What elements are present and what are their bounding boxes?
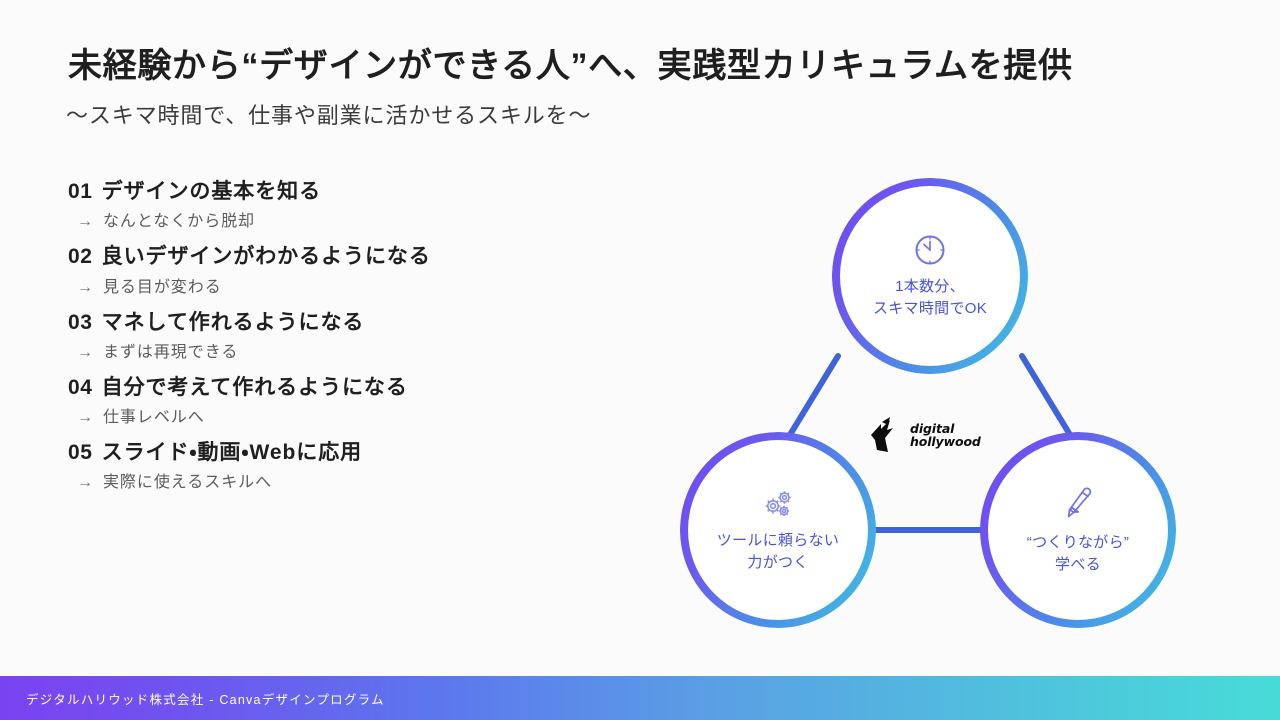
node-inner: ツールに頼らない 力がつく: [688, 440, 868, 620]
step-number: 05: [68, 441, 93, 464]
step-heading-text: 良いデザインがわかるようになる: [102, 245, 431, 268]
step-heading-text: マネして作れるようになる: [102, 311, 365, 334]
arrow-right-icon: →: [77, 279, 94, 296]
pencil-icon: [1062, 485, 1094, 523]
footer-text: デジタルハリウッド株式会社 - Canvaデザインプログラム: [26, 689, 385, 708]
list-item: 05スライド・動画・Webに応用 →実際に使えるスキルへ: [68, 439, 628, 493]
digital-hollywood-logo: digitalhollywood: [865, 412, 1000, 458]
clock-icon: [913, 233, 947, 267]
diagram-node-top[interactable]: 1本数分、 スキマ時間でOK: [832, 178, 1028, 374]
diagram-node-label: “つくりながら” 学べる: [1027, 532, 1129, 576]
arrow-right-icon: →: [77, 474, 94, 491]
footer-bar: デジタルハリウッド株式会社 - Canvaデザインプログラム: [0, 676, 1280, 720]
arrow-right-icon: →: [77, 213, 94, 230]
diagram-node-left[interactable]: ツールに頼らない 力がつく: [680, 432, 876, 628]
diagram-node-label: 1本数分、 スキマ時間でOK: [873, 276, 987, 320]
step-subtext: →まずは再現できる: [77, 343, 628, 363]
step-subtext: →見る目が変わる: [77, 278, 628, 298]
gears-icon: [760, 487, 796, 521]
arrow-right-icon: →: [77, 409, 94, 426]
step-subtext-label: 仕事レベルへ: [103, 409, 205, 426]
step-heading: 03マネして作れるようになる: [68, 309, 628, 336]
step-heading-text: スライド・動画・Webに応用: [102, 441, 362, 464]
step-number: 01: [68, 180, 93, 203]
list-item: 01デザインの基本を知る →なんとなくから脱却: [68, 178, 628, 232]
logo-line-2: hollywood: [910, 434, 981, 449]
step-heading: 05スライド・動画・Webに応用: [68, 439, 628, 466]
connector-top-left: [788, 356, 838, 438]
list-item: 04自分で考えて作れるようになる →仕事レベルへ: [68, 374, 628, 428]
curriculum-step-list: 01デザインの基本を知る →なんとなくから脱却 02良いデザインがわかるようにな…: [68, 178, 628, 504]
step-subtext: →仕事レベルへ: [77, 408, 628, 428]
node-inner: 1本数分、 スキマ時間でOK: [840, 186, 1020, 366]
step-heading-text: 自分で考えて作れるようになる: [102, 376, 408, 399]
page-title: 未経験から“デザインができる人”へ、実践型カリキュラムを提供: [68, 38, 1073, 87]
step-number: 04: [68, 376, 93, 399]
step-subtext-label: 見る目が変わる: [103, 279, 222, 296]
step-number: 03: [68, 311, 93, 334]
step-number: 02: [68, 245, 93, 268]
step-subtext-label: まずは再現できる: [103, 344, 238, 361]
digital-hollywood-wordmark: digitalhollywood: [910, 422, 981, 449]
step-subtext: →なんとなくから脱却: [77, 212, 628, 232]
step-heading: 02良いデザインがわかるようになる: [68, 243, 628, 270]
step-subtext: →実際に使えるスキルへ: [77, 473, 628, 493]
list-item: 03マネして作れるようになる →まずは再現できる: [68, 309, 628, 363]
step-heading-text: デザインの基本を知る: [102, 180, 321, 203]
list-item: 02良いデザインがわかるようになる →見る目が変わる: [68, 243, 628, 297]
diagram-node-label: ツールに頼らない 力がつく: [717, 530, 839, 574]
step-subtext-label: なんとなくから脱却: [103, 213, 255, 230]
step-heading: 04自分で考えて作れるようになる: [68, 374, 628, 401]
step-subtext-label: 実際に使えるスキルへ: [103, 474, 272, 491]
node-inner: “つくりながら” 学べる: [988, 440, 1168, 620]
diagram-node-right[interactable]: “つくりながら” 学べる: [980, 432, 1176, 628]
benefits-triangle-diagram: 1本数分、 スキマ時間でOK: [660, 160, 1200, 640]
arrow-right-icon: →: [77, 344, 94, 361]
digital-hollywood-mark-icon: [865, 414, 905, 456]
connector-top-right: [1022, 356, 1072, 438]
page-subtitle: 〜スキマ時間で、仕事や副業に活かせるスキルを〜: [66, 98, 591, 130]
step-heading: 01デザインの基本を知る: [68, 178, 628, 205]
